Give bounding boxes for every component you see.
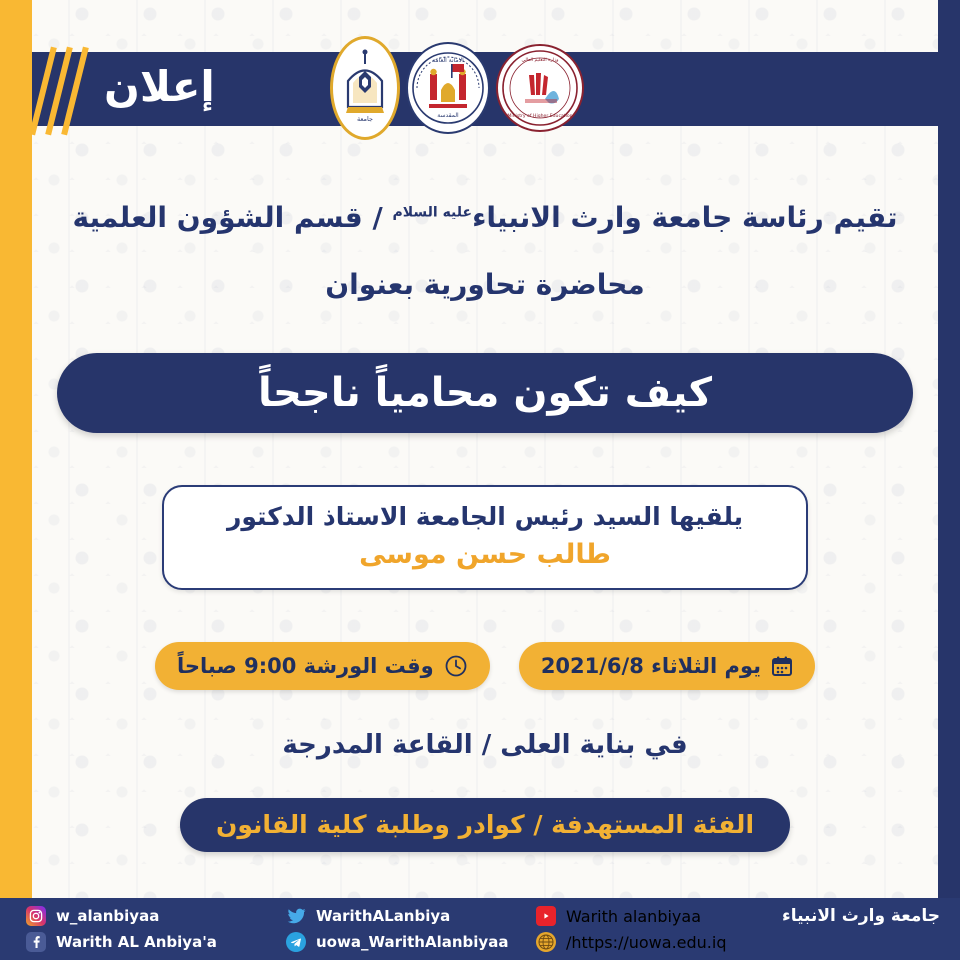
- calendar-icon: [771, 655, 793, 677]
- youtube-handle: Warith alanbiyaa: [566, 907, 701, 926]
- clock-icon: [444, 654, 468, 678]
- facebook-handle: Warith AL Anbiya'a: [56, 933, 217, 951]
- announcement-poster: إعلان جامعة: [0, 0, 960, 960]
- ministry-logo: Ministry of Higher Education وزارة التعل…: [496, 44, 584, 132]
- ministry-seal-icon: Ministry of Higher Education وزارة التعل…: [501, 49, 579, 127]
- telegram-row[interactable]: uowa_WarithAlanbiyaa: [286, 932, 536, 952]
- audience-pill: الفئة المستهدفة / كوادر وطلبة كلية القان…: [180, 798, 790, 852]
- svg-text:المقدسة: المقدسة: [437, 112, 459, 119]
- time-pill: وقت الورشة 9:00 صباحاً: [155, 642, 490, 690]
- facebook-row[interactable]: Warith AL Anbiya'a: [26, 932, 286, 952]
- footer-column-2: WarithALanbiya uowa_WarithAlanbiyaa: [286, 906, 536, 952]
- speaker-box: يلقيها السيد رئيس الجامعة الاستاذ الدكتو…: [162, 485, 808, 590]
- university-logo: جامعة: [330, 36, 400, 140]
- diagonal-stripes-decoration: [32, 52, 98, 126]
- instagram-row[interactable]: w_alanbiyaa: [26, 906, 286, 926]
- lecture-title: كيف تكون محامياً ناجحاً: [258, 370, 712, 416]
- facebook-icon: [26, 932, 46, 952]
- audience-label: الفئة المستهدفة / كوادر وطلبة كلية القان…: [216, 810, 754, 839]
- svg-text:الامانة العامة: الامانة العامة: [432, 57, 464, 64]
- university-crest-icon: جامعة: [339, 47, 391, 129]
- footer-column-3: Warith alanbiyaa جامعة وارث الانبياء /ht…: [536, 906, 944, 952]
- speaker-role: يلقيها السيد رئيس الجامعة الاستاذ الدكتو…: [182, 501, 788, 532]
- social-footer: w_alanbiyaa Warith AL Anbiya'a WarithAL: [0, 898, 960, 960]
- left-yellow-border-strip: [0, 0, 32, 960]
- twitter-row[interactable]: WarithALanbiya: [286, 906, 536, 926]
- speaker-name: طالب حسن موسى: [182, 539, 788, 571]
- svg-text:وزارة التعليم العالي: وزارة التعليم العالي: [521, 58, 558, 63]
- lecture-title-banner: كيف تكون محامياً ناجحاً: [57, 353, 913, 433]
- svg-text:جامعة: جامعة: [357, 115, 373, 123]
- poster-content: تقيم رئاسة جامعة وارث الانبياءعليه السلا…: [32, 140, 938, 896]
- youtube-icon: [536, 906, 556, 926]
- svg-text:Ministry of Higher Education: Ministry of Higher Education: [507, 113, 572, 119]
- logo-group: جامعة المقدسة الامانة العامة: [330, 36, 584, 140]
- website-row[interactable]: /https://uowa.edu.iq: [536, 932, 944, 952]
- announcement-title: إعلان: [104, 66, 215, 108]
- footer-column-1: w_alanbiyaa Warith AL Anbiya'a: [16, 906, 286, 952]
- date-pill: يوم الثلاثاء 2021/6/8: [519, 642, 815, 690]
- instagram-icon: [26, 906, 46, 926]
- twitter-icon: [286, 906, 306, 926]
- intro-line-1-prefix: تقيم رئاسة جامعة وارث الانبياء: [472, 201, 897, 234]
- date-label: يوم الثلاثاء 2021/6/8: [541, 654, 761, 678]
- telegram-icon: [286, 932, 306, 952]
- pbuh-honorific: عليه السلام: [393, 205, 473, 221]
- time-label: وقت الورشة 9:00 صباحاً: [177, 654, 434, 678]
- youtube-row[interactable]: Warith alanbiyaa جامعة وارث الانبياء: [536, 906, 944, 926]
- intro-line-1-suffix: / قسم الشؤون العلمية: [73, 201, 383, 234]
- shrine-logo: المقدسة الامانة العامة: [406, 42, 490, 134]
- twitter-handle: WarithALanbiya: [316, 907, 450, 925]
- instagram-handle: w_alanbiyaa: [56, 907, 159, 925]
- website-url: /https://uowa.edu.iq: [566, 933, 726, 952]
- venue-line: في بناية العلى / القاعة المدرجة: [282, 730, 687, 760]
- date-time-row: يوم الثلاثاء 2021/6/8 وقت الورشة 9:00 صب…: [155, 642, 815, 690]
- telegram-handle: uowa_WarithAlanbiyaa: [316, 933, 508, 951]
- globe-icon: [536, 932, 556, 952]
- shrine-seal-icon: المقدسة الامانة العامة: [411, 48, 485, 128]
- intro-line-1: تقيم رئاسة جامعة وارث الانبياءعليه السلا…: [73, 198, 898, 239]
- footer-brand: جامعة وارث الانبياء: [782, 906, 940, 926]
- right-navy-border-strip: [938, 0, 960, 960]
- intro-line-2: محاضرة تحاورية بعنوان: [325, 265, 645, 306]
